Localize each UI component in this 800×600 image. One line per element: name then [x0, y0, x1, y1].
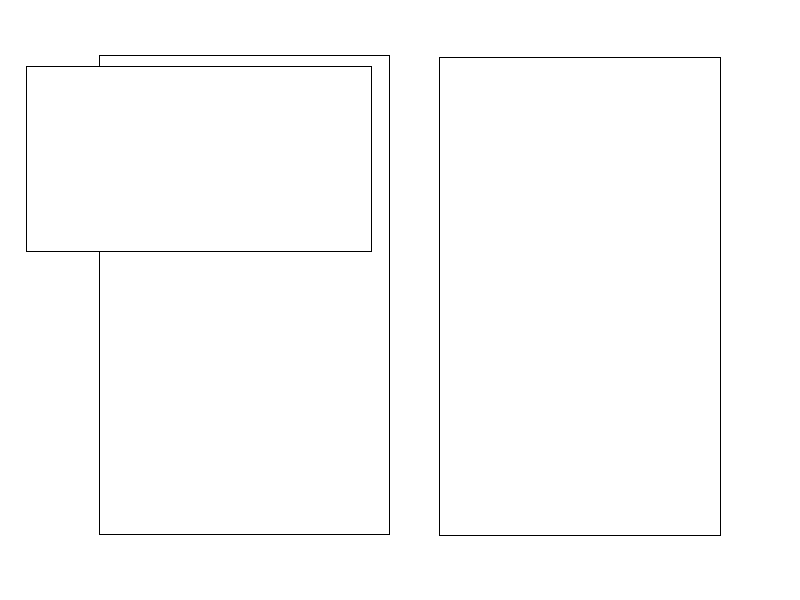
figure-canvas [0, 0, 800, 600]
histogram-plot-area [440, 58, 720, 535]
scatter-legend [26, 66, 372, 252]
histogram-axes [439, 57, 721, 536]
